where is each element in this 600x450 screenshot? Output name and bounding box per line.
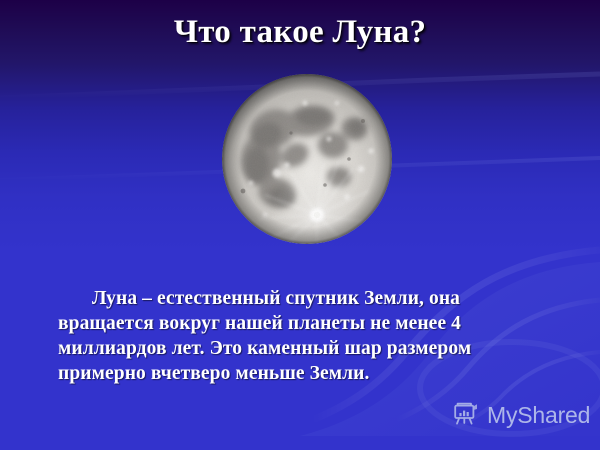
presentation-slide: Что такое Луна?	[0, 0, 600, 450]
myshared-watermark[interactable]: MyShared	[452, 401, 590, 429]
slide-title: Что такое Луна?	[0, 14, 600, 50]
slide-body-text: Луна – естественный спутник Земли, она в…	[58, 286, 546, 386]
moon-image	[221, 73, 393, 245]
presentation-chart-icon	[452, 401, 480, 429]
moon-graphic	[221, 73, 393, 245]
myshared-label: MyShared	[487, 404, 590, 427]
